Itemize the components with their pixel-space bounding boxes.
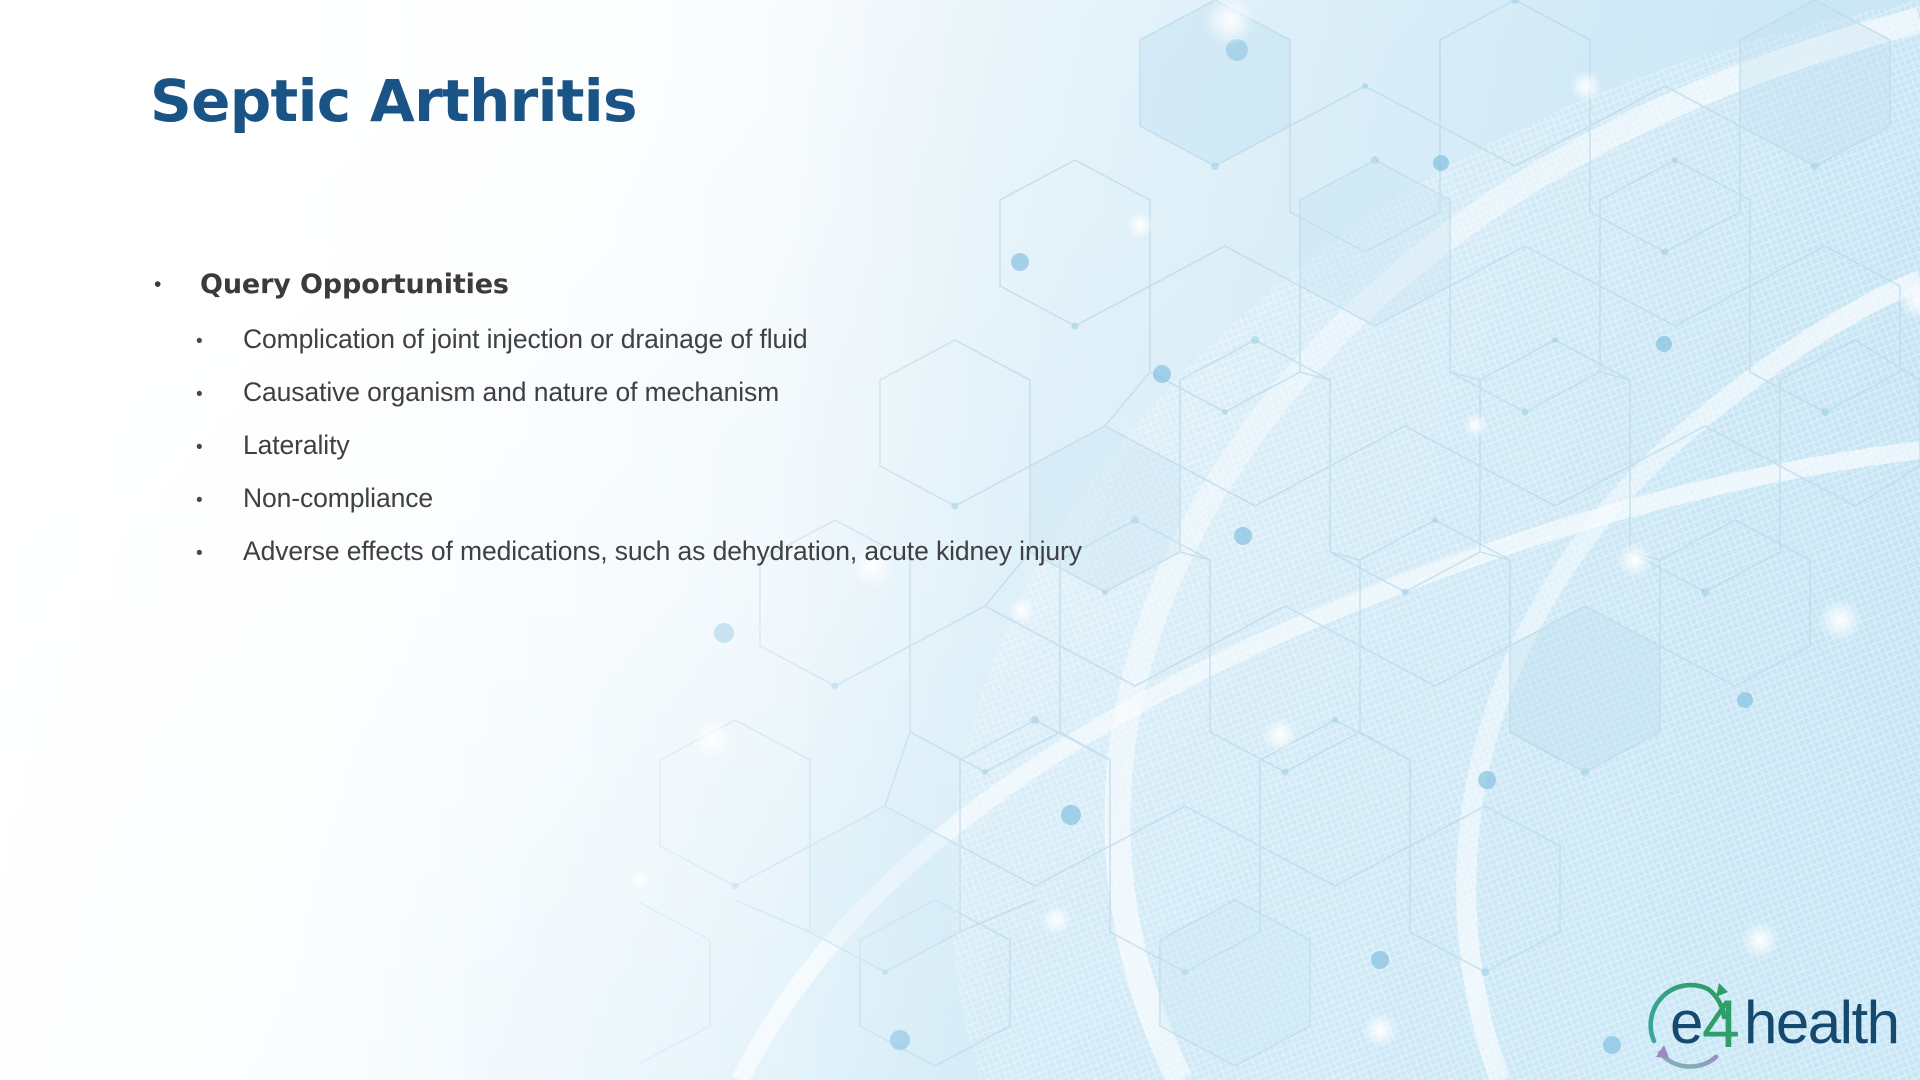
bullet-list: • Query Opportunities • Complication of … xyxy=(150,267,1450,587)
logo-text-health: health xyxy=(1744,989,1898,1056)
e4health-logo: e 4 health xyxy=(1640,965,1900,1070)
logo-text-e: e xyxy=(1670,989,1702,1056)
list-item-level2: • Adverse effects of medications, such a… xyxy=(196,534,1450,587)
list-item-level1: • Query Opportunities xyxy=(150,267,1450,302)
bullet-marker-icon: • xyxy=(196,375,243,409)
slide-content: Septic Arthritis • Query Opportunities •… xyxy=(0,0,1920,1080)
list-item-level2: • Causative organism and nature of mecha… xyxy=(196,375,1450,428)
bullet-marker-icon: • xyxy=(150,267,200,301)
logo-text-4: 4 xyxy=(1702,986,1740,1062)
page-title: Septic Arthritis xyxy=(150,70,637,134)
list-item-label: Non-compliance xyxy=(243,481,433,517)
list-item-level2: • Laterality xyxy=(196,428,1450,481)
bullet-marker-icon: • xyxy=(196,534,243,568)
list-item-label: Causative organism and nature of mechani… xyxy=(243,375,779,411)
sub-bullet-list: • Complication of joint injection or dra… xyxy=(196,322,1450,587)
list-item-level2: • Complication of joint injection or dra… xyxy=(196,322,1450,375)
list-item-label: Laterality xyxy=(243,428,349,464)
list-item-label: Adverse effects of medications, such as … xyxy=(243,534,1082,570)
bullet-marker-icon: • xyxy=(196,428,243,462)
list-item-level2: • Non-compliance xyxy=(196,481,1450,534)
bullet-marker-icon: • xyxy=(196,481,243,515)
slide-canvas: Septic Arthritis • Query Opportunities •… xyxy=(0,0,1920,1080)
list-item-label: Query Opportunities xyxy=(200,267,509,302)
arrow-head-bottom-icon xyxy=(1656,1045,1669,1058)
bullet-marker-icon: • xyxy=(196,322,243,356)
list-item-label: Complication of joint injection or drain… xyxy=(243,322,808,358)
